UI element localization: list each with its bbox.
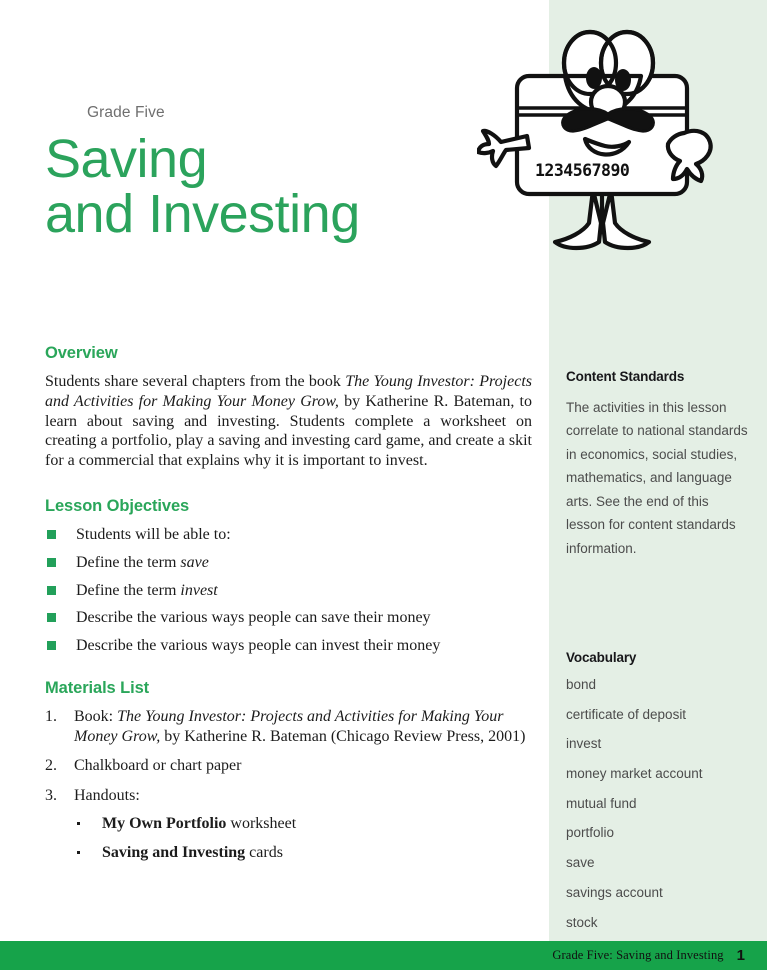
vocabulary-heading: Vocabulary (566, 650, 751, 665)
objective-text: Define the term (76, 554, 180, 571)
list-item: Define the term save (45, 553, 532, 572)
footer-inner: Grade Five: Saving and Investing 1 (552, 941, 745, 970)
content-standards-text: The activities in this lesson correlate … (566, 396, 751, 560)
document-page: 1234567890 Grade Five Saving and Investi… (0, 0, 767, 970)
overview-text-part1: Students share several chapters from the… (45, 373, 345, 390)
list-item: Describe the various ways people can inv… (45, 636, 532, 655)
objective-emphasis: invest (180, 582, 217, 599)
material-lead: Handouts: (74, 787, 140, 804)
list-item: Students will be able to: (45, 525, 532, 544)
dot-bullet-icon (77, 822, 80, 825)
list-item: save (566, 855, 751, 871)
lesson-objectives-list: Students will be able to: Define the ter… (45, 525, 532, 655)
dot-bullet-icon (77, 851, 80, 854)
objective-text: Define the term (76, 582, 180, 599)
list-item: Define the term invest (45, 581, 532, 600)
handout-tail: worksheet (226, 815, 296, 832)
page-header: Grade Five Saving and Investing (45, 104, 515, 241)
objective-text: Describe the various ways people can inv… (76, 637, 440, 654)
list-number: 3. (45, 786, 65, 806)
content-standards-section: Content Standards The activities in this… (566, 369, 751, 560)
page-title: Saving and Investing (45, 132, 515, 241)
square-bullet-icon (47, 530, 56, 539)
list-item: mutual fund (566, 796, 751, 812)
material-lead: Chalkboard or chart paper (74, 757, 241, 774)
square-bullet-icon (47, 613, 56, 622)
list-item: bond (566, 677, 751, 693)
list-item: certificate of deposit (566, 707, 751, 723)
list-item: My Own Portfolio worksheet (74, 814, 532, 834)
objective-emphasis: save (180, 554, 208, 571)
materials-list-heading: Materials List (45, 679, 532, 698)
overview-heading: Overview (45, 344, 532, 363)
materials-list: 1.Book: The Young Investor: Projects and… (45, 707, 532, 862)
content-standards-heading: Content Standards (566, 369, 751, 384)
main-content-column: Overview Students share several chapters… (45, 344, 532, 872)
page-title-line-1: Saving (45, 132, 515, 187)
list-number: 1. (45, 707, 65, 727)
list-item: portfolio (566, 825, 751, 841)
vocabulary-list: bond certificate of deposit invest money… (566, 677, 751, 931)
square-bullet-icon (47, 641, 56, 650)
material-lead: Book: (74, 708, 117, 725)
handouts-list: My Own Portfolio worksheet Saving and In… (74, 814, 532, 862)
grade-label: Grade Five (87, 104, 515, 122)
square-bullet-icon (47, 586, 56, 595)
list-item: 3.Handouts: My Own Portfolio worksheet S… (45, 786, 532, 863)
card-number-text: 1234567890 (535, 161, 629, 180)
list-item: 1.Book: The Young Investor: Projects and… (45, 707, 532, 746)
materials-list-section: Materials List 1.Book: The Young Investo… (45, 679, 532, 862)
list-item: savings account (566, 885, 751, 901)
objective-text: Describe the various ways people can sav… (76, 609, 431, 626)
list-item: 2.Chalkboard or chart paper (45, 756, 532, 776)
overview-paragraph: Students share several chapters from the… (45, 372, 532, 471)
list-item: Saving and Investing cards (74, 843, 532, 863)
page-title-line-2: and Investing (45, 187, 515, 242)
handout-name: Saving and Investing (102, 844, 245, 861)
vocabulary-section: Vocabulary bond certificate of deposit i… (566, 650, 751, 944)
footer-title: Grade Five: Saving and Investing (552, 948, 723, 963)
list-item: stock (566, 915, 751, 931)
lesson-objectives-section: Lesson Objectives Students will be able … (45, 497, 532, 655)
list-number: 2. (45, 756, 65, 776)
list-item: Describe the various ways people can sav… (45, 608, 532, 627)
list-item: money market account (566, 766, 751, 782)
list-item: invest (566, 736, 751, 752)
handout-tail: cards (245, 844, 283, 861)
material-tail: by Katherine R. Bateman (Chicago Review … (160, 728, 525, 745)
page-number: 1 (737, 947, 745, 964)
handout-name: My Own Portfolio (102, 815, 226, 832)
objective-text: Students will be able to: (76, 526, 231, 543)
page-footer: Grade Five: Saving and Investing 1 (0, 941, 767, 970)
lesson-objectives-heading: Lesson Objectives (45, 497, 532, 516)
square-bullet-icon (47, 558, 56, 567)
overview-section: Overview Students share several chapters… (45, 344, 532, 471)
